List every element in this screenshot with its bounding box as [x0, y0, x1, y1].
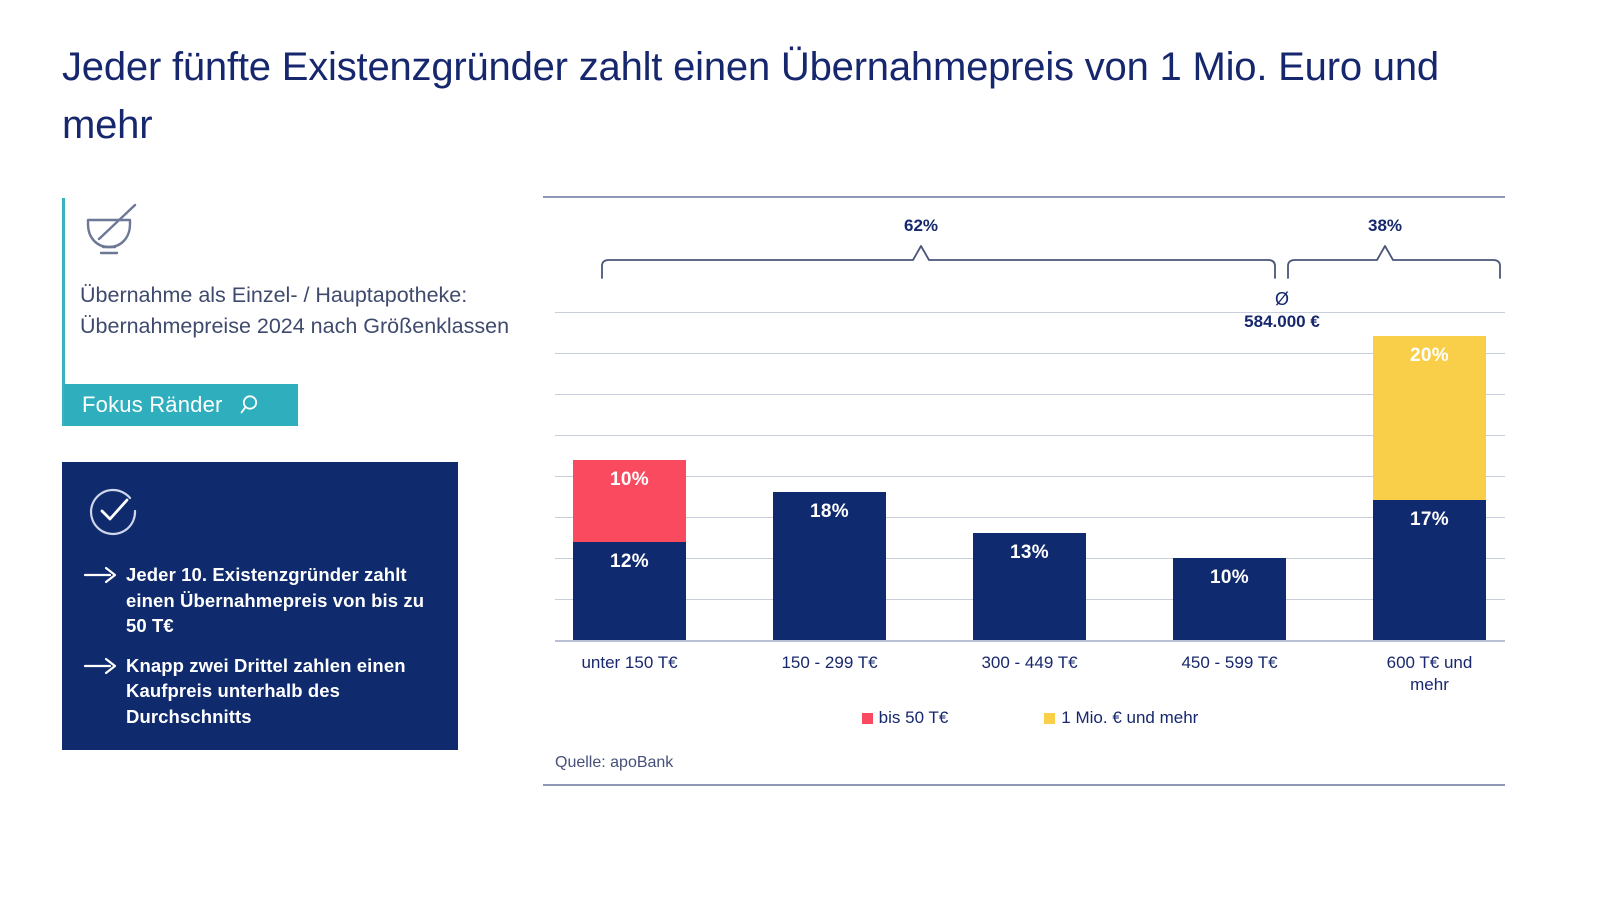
- bar-segment-navy[interactable]: 12%: [573, 542, 686, 640]
- x-tick-label: unter 150 T€: [573, 652, 686, 674]
- bar-group-300-449[interactable]: 13%: [973, 533, 1086, 640]
- focus-badge[interactable]: Fokus Ränder: [64, 384, 298, 426]
- chart-panel: 62% 38% Ø 584.000 € 10% 12%: [543, 196, 1505, 786]
- chart-legend: bis 50 T€ 1 Mio. € und mehr: [555, 708, 1505, 728]
- bracket-annotations: 62% 38% Ø 584.000 €: [555, 216, 1505, 312]
- arrow-right-icon: [84, 566, 126, 589]
- list-item: Knapp zwei Drittel zahlen einen Kaufprei…: [84, 653, 440, 730]
- bar-value-label: 18%: [810, 501, 849, 640]
- bar-group-600-und-mehr[interactable]: 20% 17%: [1373, 336, 1486, 640]
- page-title: Jeder fünfte Existenzgründer zahlt einen…: [62, 38, 1522, 155]
- legend-item-1mio[interactable]: 1 Mio. € und mehr: [1044, 708, 1198, 728]
- chart-top-rule: [543, 196, 1505, 198]
- bar-segment-navy[interactable]: 10%: [1173, 558, 1286, 640]
- insight-bullet-text: Jeder 10. Existenzgründer zahlt einen Üb…: [126, 562, 440, 639]
- bar-segment-navy[interactable]: 18%: [773, 492, 886, 640]
- average-symbol: Ø: [1202, 288, 1362, 311]
- bar-group-450-599[interactable]: 10%: [1173, 558, 1286, 640]
- legend-label: 1 Mio. € und mehr: [1061, 708, 1198, 728]
- x-tick-label: 600 T€ und mehr: [1373, 652, 1486, 696]
- bar-value-label: 20%: [1410, 345, 1449, 500]
- sidebar-subtitle: Übernahme als Einzel- / Hauptapotheke: Ü…: [80, 280, 530, 341]
- bar-value-label: 12%: [610, 551, 649, 640]
- check-circle-icon: [86, 484, 140, 538]
- x-tick-label: 300 - 449 T€: [973, 652, 1086, 674]
- legend-item-bis-50[interactable]: bis 50 T€: [862, 708, 949, 728]
- legend-swatch-yellow: [1044, 713, 1055, 724]
- bar-group-unter-150[interactable]: 10% 12%: [573, 460, 686, 640]
- insight-bullet-text: Knapp zwei Drittel zahlen einen Kaufprei…: [126, 653, 440, 730]
- chart-source: Quelle: apoBank: [555, 754, 673, 772]
- magnifier-icon: [237, 393, 261, 417]
- list-item: Jeder 10. Existenzgründer zahlt einen Üb…: [84, 562, 440, 639]
- bar-segment-navy[interactable]: 13%: [973, 533, 1086, 640]
- bracket-left-label: 62%: [881, 216, 961, 236]
- x-axis-line: [555, 640, 1505, 642]
- insight-card: Jeder 10. Existenzgründer zahlt einen Üb…: [62, 462, 458, 750]
- bar-segment-yellow[interactable]: 20%: [1373, 336, 1486, 500]
- bar-value-label: 17%: [1410, 509, 1449, 640]
- bar-value-label: 13%: [1010, 542, 1049, 640]
- bar-series: 10% 12% 18% 13% 10%: [555, 312, 1505, 640]
- x-tick-label: 450 - 599 T€: [1173, 652, 1286, 674]
- insight-bullet-list: Jeder 10. Existenzgründer zahlt einen Üb…: [84, 562, 440, 743]
- legend-swatch-red: [862, 713, 873, 724]
- bar-segment-navy[interactable]: 17%: [1373, 500, 1486, 640]
- bracket-right-label: 38%: [1345, 216, 1425, 236]
- legend-label: bis 50 T€: [879, 708, 949, 728]
- plot-area: 10% 12% 18% 13% 10%: [555, 312, 1505, 642]
- mortar-pestle-icon: [80, 198, 144, 260]
- x-axis-labels: unter 150 T€ 150 - 299 T€ 300 - 449 T€ 4…: [555, 652, 1505, 706]
- focus-badge-label: Fokus Ränder: [82, 394, 223, 416]
- bar-group-150-299[interactable]: 18%: [773, 492, 886, 640]
- bar-value-label: 10%: [1210, 567, 1249, 640]
- bar-value-label: 10%: [610, 469, 649, 542]
- arrow-right-icon: [84, 657, 126, 680]
- bar-segment-red[interactable]: 10%: [573, 460, 686, 542]
- x-tick-label: 150 - 299 T€: [773, 652, 886, 674]
- chart-bottom-rule: [543, 784, 1505, 786]
